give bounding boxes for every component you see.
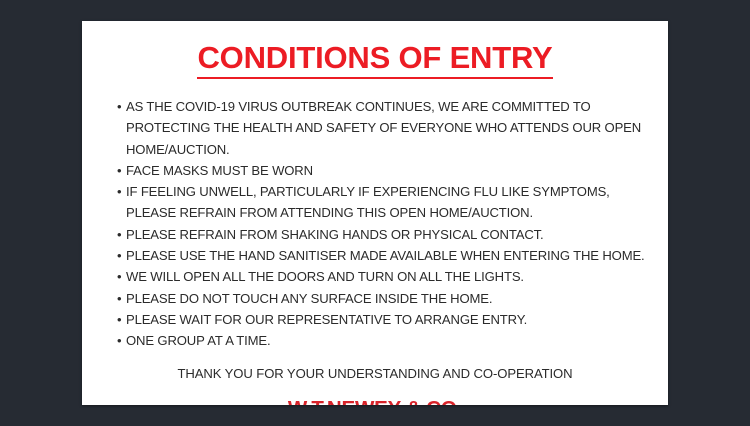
bullet-icon: • [117,96,121,117]
conditions-list: • AS THE COVID-19 VIRUS OUTBREAK CONTINU… [82,79,668,352]
screenshot-stage: CONDITIONS OF ENTRY • AS THE COVID-19 VI… [0,0,750,426]
company-name: W.T.NEWEY & CO. [82,384,668,405]
list-item: • IF FEELING UNWELL, PARTICULARLY IF EXP… [117,181,654,224]
list-item-text: AS THE COVID-19 VIRUS OUTBREAK CONTINUES… [126,99,641,157]
bullet-icon: • [117,330,121,351]
list-item-text: PLEASE WAIT FOR OUR REPRESENTATIVE TO AR… [126,312,527,327]
list-item-text: ONE GROUP AT A TIME. [126,333,270,348]
bullet-icon: • [117,181,121,202]
list-item-text: WE WILL OPEN ALL THE DOORS AND TURN ON A… [126,269,524,284]
list-item: • PLEASE USE THE HAND SANITISER MADE AVA… [117,245,654,266]
list-item: • ONE GROUP AT A TIME. [117,330,654,351]
bullet-icon: • [117,309,121,330]
list-item: • PLEASE WAIT FOR OUR REPRESENTATIVE TO … [117,309,654,330]
list-item-text: PLEASE REFRAIN FROM SHAKING HANDS OR PHY… [126,227,544,242]
list-item-text: PLEASE USE THE HAND SANITISER MADE AVAIL… [126,248,645,263]
bullet-icon: • [117,160,121,181]
bullet-icon: • [117,224,121,245]
list-item-text: IF FEELING UNWELL, PARTICULARLY IF EXPER… [126,184,610,220]
bullet-icon: • [117,288,121,309]
list-item: • FACE MASKS MUST BE WORN [117,160,654,181]
bullet-icon: • [117,245,121,266]
conditions-of-entry-sign: CONDITIONS OF ENTRY • AS THE COVID-19 VI… [82,21,668,405]
bullet-icon: • [117,266,121,287]
list-item-text: PLEASE DO NOT TOUCH ANY SURFACE INSIDE T… [126,291,492,306]
list-item: • WE WILL OPEN ALL THE DOORS AND TURN ON… [117,266,654,287]
closing-message: THANK YOU FOR YOUR UNDERSTANDING AND CO-… [82,352,668,384]
list-item-text: FACE MASKS MUST BE WORN [126,163,313,178]
list-item: • PLEASE REFRAIN FROM SHAKING HANDS OR P… [117,224,654,245]
page-title: CONDITIONS OF ENTRY [82,21,668,79]
page-title-text: CONDITIONS OF ENTRY [197,42,552,79]
list-item: • AS THE COVID-19 VIRUS OUTBREAK CONTINU… [117,96,654,160]
list-item: • PLEASE DO NOT TOUCH ANY SURFACE INSIDE… [117,288,654,309]
